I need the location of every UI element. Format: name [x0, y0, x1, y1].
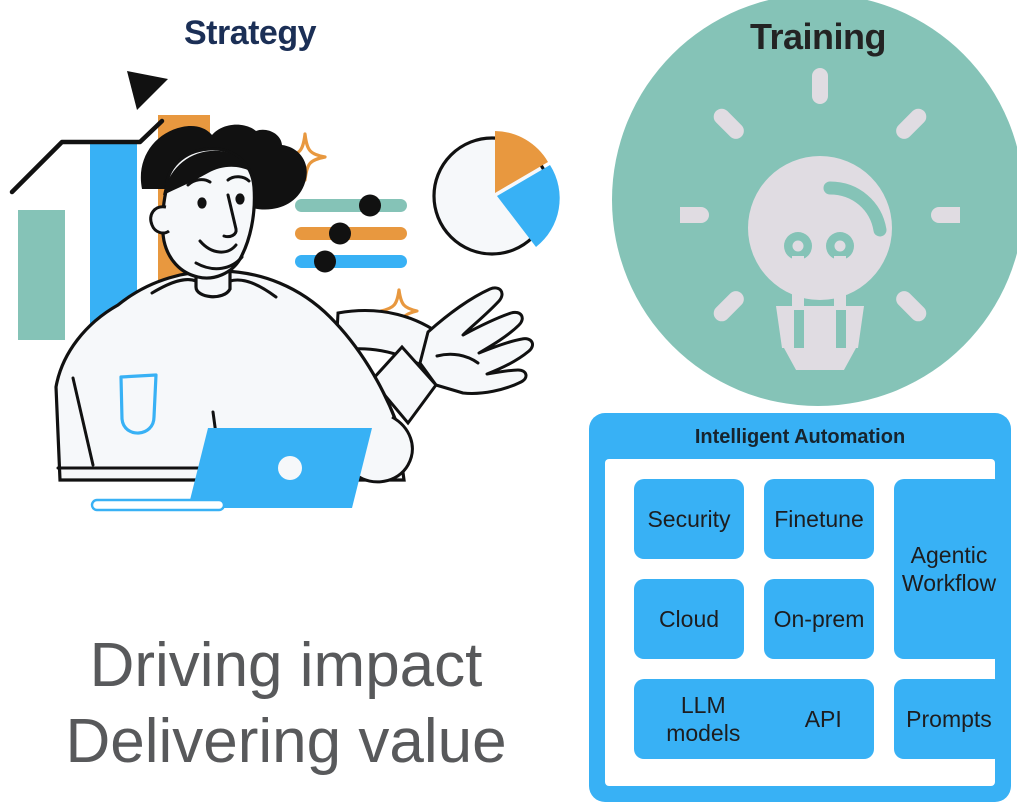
pie-chart — [434, 131, 560, 254]
laptop-base — [92, 500, 224, 510]
tagline: Driving impact Delivering value — [0, 628, 572, 780]
ray-e — [931, 207, 960, 223]
ia-box-security[interactable]: Security — [634, 479, 744, 559]
tagline-line-2: Delivering value — [0, 704, 572, 780]
tagline-line-1: Driving impact — [0, 628, 572, 704]
trend-arrow-icon — [12, 121, 162, 192]
intelligent-automation-panel: Intelligent Automation Security Finetune… — [589, 413, 1011, 802]
eye-right — [235, 193, 244, 204]
ear — [151, 207, 169, 233]
trend-arrow-head-icon — [127, 71, 168, 110]
bulb-glass — [748, 156, 892, 300]
open-hand — [420, 288, 533, 394]
pencil-cone — [784, 348, 856, 370]
ray-se — [893, 288, 930, 325]
ia-box-security-label: Security — [647, 505, 730, 533]
slider-teal-knob[interactable] — [359, 195, 381, 217]
ia-box-prompts[interactable]: Prompts — [894, 679, 1004, 759]
ia-box-agentic-workflow[interactable]: Agentic Workflow — [894, 479, 1004, 659]
ia-box-prompts-label: Prompts — [906, 705, 992, 733]
ia-box-llm-models-label-group: LLM models — [662, 691, 744, 747]
slider-orange[interactable] — [295, 223, 407, 245]
intelligent-automation-title: Intelligent Automation — [589, 426, 1011, 449]
ray-n — [812, 68, 828, 104]
ia-box-finetune-label: Finetune — [774, 505, 864, 533]
ia-box-agentic-workflow-label-line2: Workflow — [902, 569, 996, 597]
strategy-illustration — [0, 55, 580, 525]
pencil-body — [776, 306, 864, 348]
ia-box-agentic-workflow-label-line1: Agentic — [911, 541, 988, 569]
ia-box-cloud[interactable]: Cloud — [634, 579, 744, 659]
slider-orange-knob[interactable] — [329, 223, 351, 245]
eye-left — [197, 197, 206, 208]
slider-group — [295, 195, 407, 273]
ia-box-cloud-label: Cloud — [659, 605, 719, 633]
ia-box-llm-models-label-line2: models — [662, 719, 744, 747]
slider-blue[interactable] — [295, 251, 407, 273]
ia-box-finetune[interactable]: Finetune — [764, 479, 874, 559]
ia-box-onprem[interactable]: On-prem — [764, 579, 874, 659]
training-title: Training — [612, 16, 1017, 58]
ia-box-onprem-label: On-prem — [774, 605, 865, 633]
ray-nw — [710, 105, 747, 142]
ia-box-llm-models-api[interactable]: LLM models API — [634, 679, 874, 759]
ia-box-llm-models-label-line1: LLM — [662, 691, 744, 719]
intelligent-automation-inner-area: Security Finetune Agentic Workflow Cloud… — [605, 459, 995, 786]
bar-teal — [18, 210, 65, 340]
ray-sw — [710, 288, 747, 325]
ia-box-api-label: API — [801, 705, 846, 733]
slider-blue-knob[interactable] — [314, 251, 336, 273]
ray-ne — [893, 105, 930, 142]
lightbulb-pencil-icon — [680, 60, 960, 370]
ray-w — [680, 207, 709, 223]
slider-teal[interactable] — [295, 195, 407, 217]
laptop-logo — [278, 456, 302, 480]
strategy-title: Strategy — [0, 14, 500, 53]
